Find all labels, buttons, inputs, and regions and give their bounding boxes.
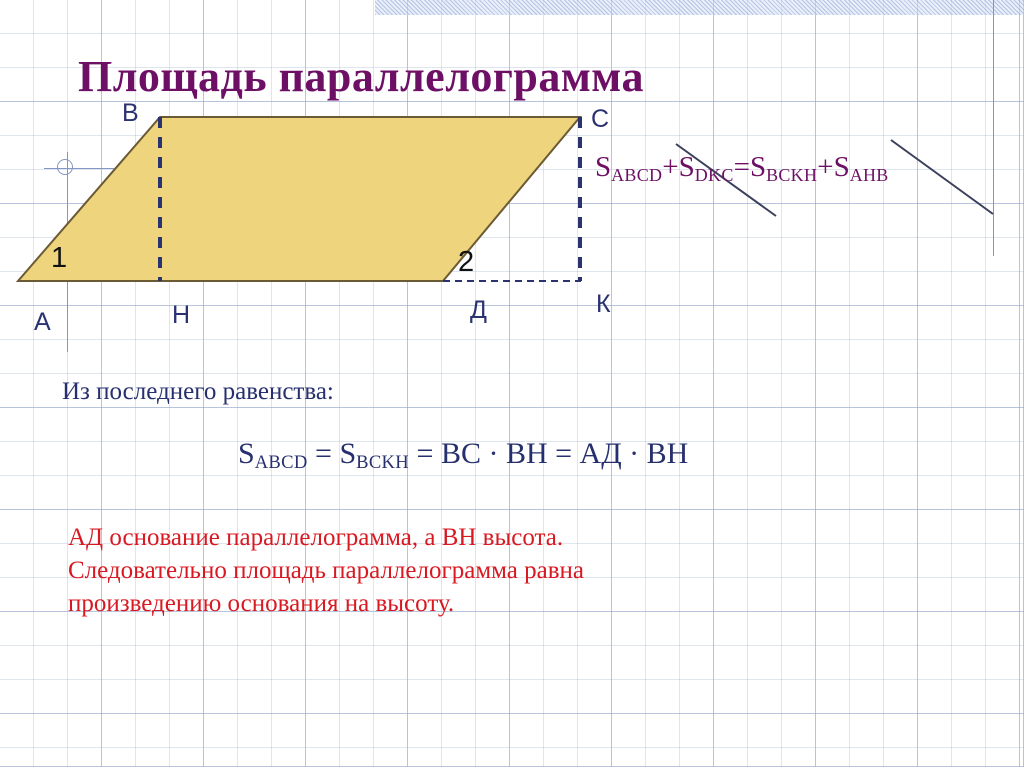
result-term-sbckh: SBCKH	[339, 437, 409, 470]
result-term-bc-bh: ВС · ВН	[441, 437, 548, 470]
top-texture-band	[375, 0, 1024, 15]
region-number-2: 2	[458, 248, 474, 277]
page-title: Площадь параллелограмма	[78, 51, 644, 103]
vertex-label-b: В	[122, 101, 139, 126]
formula-operator-plus-1: +	[662, 151, 678, 183]
guide-handle-circle-icon[interactable]	[57, 159, 73, 175]
conclusion-line-3: произведению основания на высоту.	[68, 587, 708, 620]
formula-term-sabcd: SABCD	[595, 151, 662, 183]
vertex-label-a: А	[34, 310, 51, 335]
vertex-label-d: Д	[470, 298, 487, 323]
result-operator-eq2: =	[409, 437, 441, 470]
formula-area-sum: SABCD+SDKC=SBCKH+SAHB	[595, 152, 889, 190]
conclusion-line-2: Следовательно площадь параллелограмма ра…	[68, 554, 708, 587]
right-guide-rule	[993, 0, 994, 256]
result-term-ad-bh: АД · ВН	[580, 437, 689, 470]
formula-operator-plus-2: +	[817, 151, 833, 183]
vertex-label-h: Н	[172, 303, 190, 328]
parallelogram-shape	[18, 117, 580, 281]
vertex-label-k: К	[596, 292, 611, 317]
conclusion-block: АД основание параллелограмма, а ВН высот…	[68, 521, 708, 620]
result-operator-eq1: =	[308, 437, 340, 470]
formula-operator-equals: =	[734, 151, 750, 183]
conclusion-line-1: АД основание параллелограмма, а ВН высот…	[68, 521, 708, 554]
formula-term-sbckh: SBCKH	[750, 151, 817, 183]
formula-area-result: SABCD = SBCKH = ВС · ВН = АД · ВН	[238, 438, 688, 479]
result-term-sabcd: SABCD	[238, 437, 308, 470]
left-guide-horizontal	[44, 168, 114, 169]
region-number-1: 1	[51, 244, 67, 273]
left-guide-rule	[67, 152, 68, 352]
formula-term-sahb: SAHB	[834, 151, 889, 183]
result-operator-eq3: =	[548, 437, 580, 470]
strike-line-ahb	[891, 140, 993, 214]
from-last-equality-text: Из последнего равенства:	[62, 378, 334, 406]
slide-canvas: Площадь параллелограмма В С Н А Д К 1 2 …	[0, 0, 1024, 767]
formula-term-sdkc: SDKC	[679, 151, 734, 183]
vertex-label-c: С	[591, 107, 609, 132]
